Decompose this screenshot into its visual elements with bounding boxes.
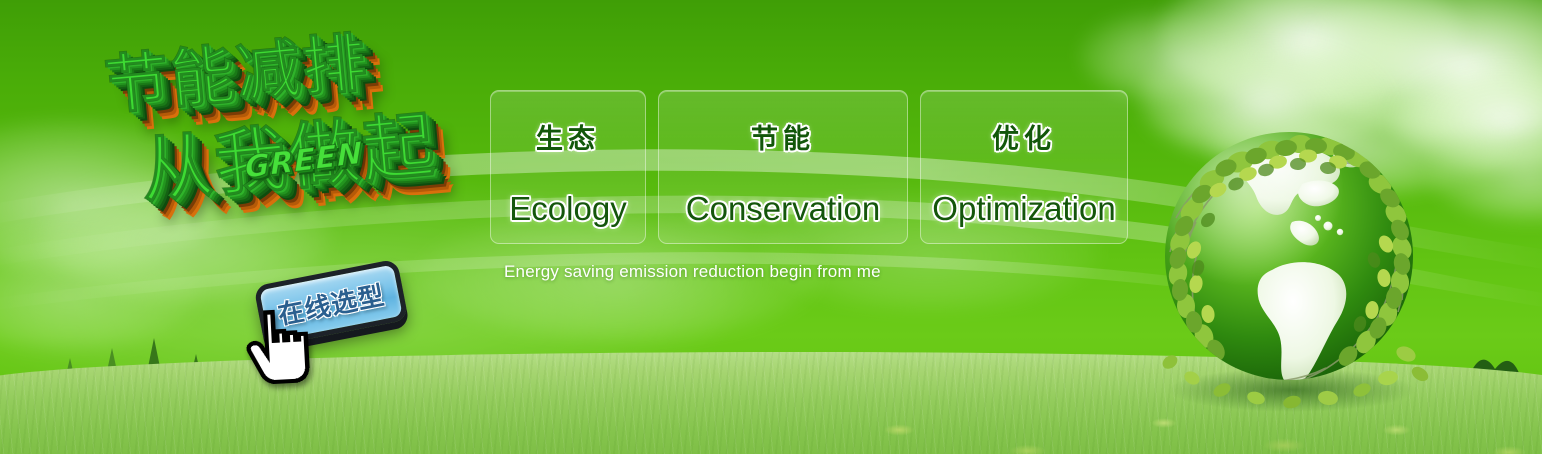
feature-card-en-label: Optimization <box>932 190 1115 228</box>
feature-card-cn-label: 生态 <box>536 117 600 156</box>
cloud-icon <box>1430 130 1542 220</box>
cloud-icon <box>1160 0 1460 110</box>
cloud-icon <box>1300 0 1542 140</box>
feature-cards: 生态 Ecology 节能 Conservation 优化 Optimizati… <box>490 90 1128 244</box>
feature-card-cn-label: 节能 <box>751 117 815 156</box>
feature-card-conservation[interactable]: 节能 Conservation <box>658 90 908 244</box>
feature-card-ecology[interactable]: 生态 Ecology <box>490 90 646 244</box>
headline-block: 节能减排 从我做起 GREEN <box>86 22 505 287</box>
cloud-icon <box>1080 10 1260 100</box>
feature-card-cn-label: 优化 <box>992 117 1056 156</box>
feature-card-en-label: Ecology <box>509 190 626 228</box>
banner-tagline: Energy saving emission reduction begin f… <box>504 262 881 282</box>
pointing-hand-cursor-icon <box>241 303 317 393</box>
green-energy-banner: 节能减排 从我做起 GREEN 在线选型 生态 Ecology 节能 Conse… <box>0 0 1542 454</box>
feature-card-en-label: Conservation <box>686 190 880 228</box>
leaf-covered-globe-icon <box>1152 122 1436 412</box>
feature-card-optimization[interactable]: 优化 Optimization <box>920 90 1128 244</box>
